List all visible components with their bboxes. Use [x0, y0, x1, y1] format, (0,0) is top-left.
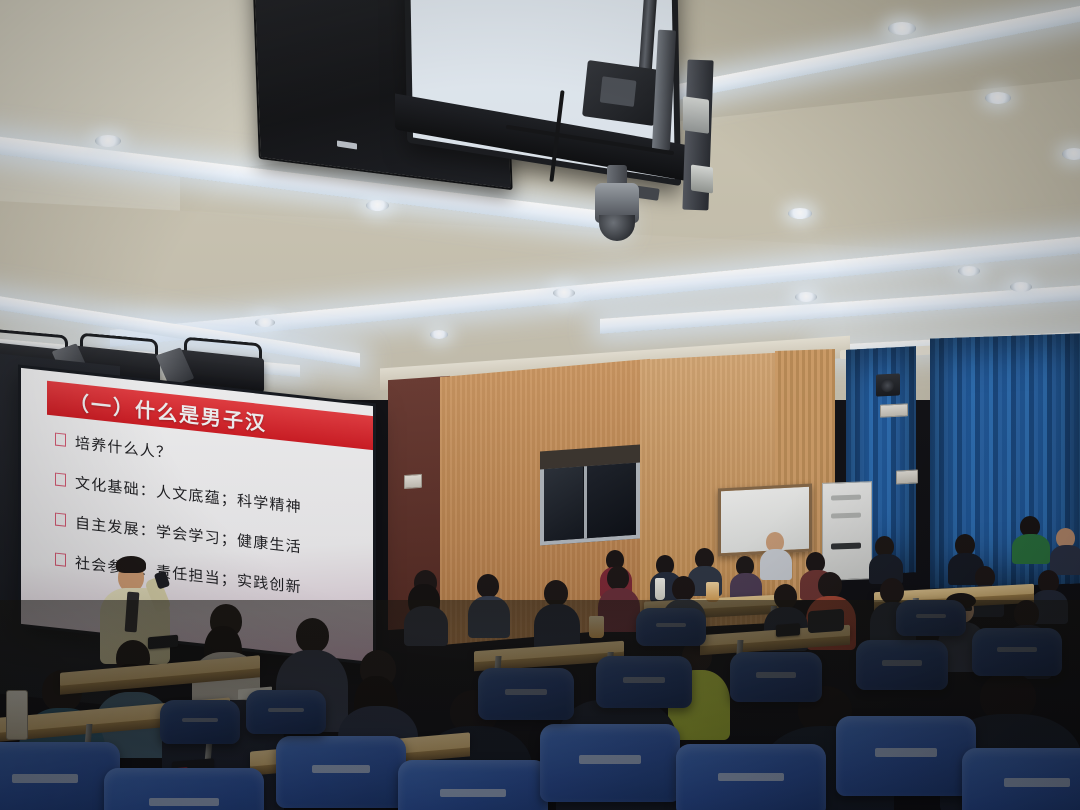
tv-mount-clamp [691, 164, 713, 193]
audience-member [869, 536, 901, 578]
ceiling-downlight [1010, 282, 1032, 292]
slide-bullet: 文化基础：人文底蕴；科学精神 [55, 470, 302, 518]
tv-slide-line: 社会参与：责任担当；实践创新 [416, 0, 669, 11]
ceiling-downlight [795, 292, 817, 302]
lecture-hall-photo: 文底蕴；科学精神 自主发展：学会学习；健康生活 社会参与：责任担当；实践创新 [0, 0, 1080, 810]
wall-speaker [876, 373, 900, 396]
wall-outlet-plate[interactable] [896, 469, 918, 484]
window-mullion [584, 466, 587, 538]
bullet-marker-icon [55, 553, 66, 567]
window-pane [544, 467, 583, 542]
audience-member [1050, 528, 1080, 568]
ceiling-downlight [95, 135, 121, 147]
audience-member [760, 532, 790, 574]
sliding-window [540, 459, 640, 546]
bullet-marker-icon [55, 433, 66, 447]
wall-switch-plate[interactable] [404, 474, 422, 489]
wall-plate[interactable] [880, 403, 908, 417]
slide-bullet-text: 培养什么人？ [75, 432, 172, 464]
audience-member [1012, 516, 1048, 558]
ceiling-downlight [1062, 148, 1080, 160]
presenter-hair [116, 556, 146, 573]
ceiling-downlight [888, 22, 916, 35]
slide-bullet: 培养什么人？ [55, 430, 172, 464]
tea-cup [706, 582, 719, 602]
window-pane [585, 463, 636, 539]
ceiling-downlight [985, 92, 1011, 104]
audience-member [730, 556, 760, 596]
ceiling-tv-assembly: 文底蕴；科学精神 自主发展：学会学习；健康生活 社会参与：责任担当；实践创新 [255, 0, 795, 280]
floor-shading [0, 600, 1080, 810]
bullet-marker-icon [55, 513, 66, 527]
slide-bullet-text: 文化基础：人文底蕴；科学精神 [75, 472, 302, 518]
slide-title: （一）什么是男子汉 [47, 383, 267, 436]
slide-bullet: 自主发展：学会学习；健康生活 [55, 510, 302, 558]
ceiling-downlight [255, 318, 275, 327]
camera-dome-lens [599, 215, 635, 241]
bullet-marker-icon [55, 473, 66, 487]
tv-mount-plate [582, 60, 660, 126]
tv-mount-clamp [683, 96, 709, 134]
ceiling-downlight [430, 330, 448, 339]
ceiling-downlight [958, 266, 980, 276]
security-dome-camera [593, 165, 641, 241]
ceiling-downlight [553, 288, 575, 298]
slide-bullet-text: 自主发展：学会学习；健康生活 [75, 512, 302, 558]
